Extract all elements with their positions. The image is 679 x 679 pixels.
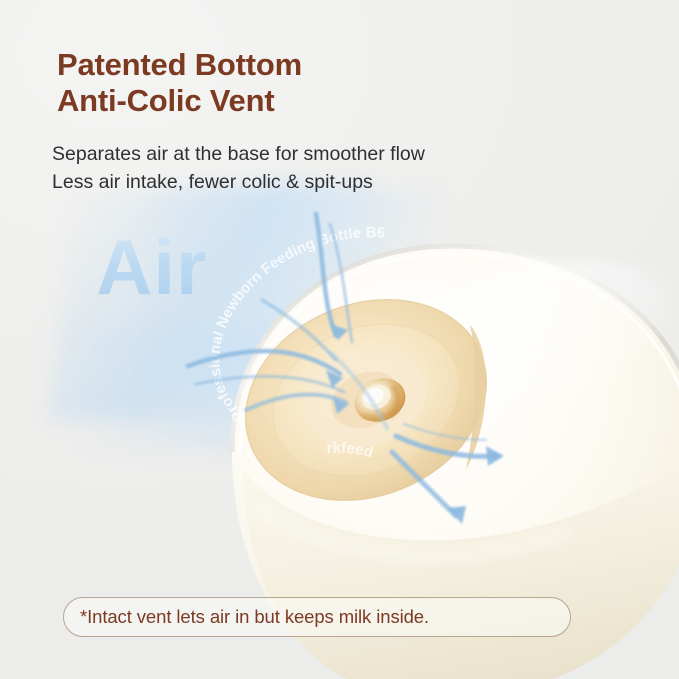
product-feature-card: Air (0, 0, 679, 679)
footnote-caption-box: *Intact vent lets air in but keeps milk … (63, 597, 571, 637)
page-title: Patented Bottom Anti-Colic Vent (57, 47, 537, 119)
footnote-caption-text: *Intact vent lets air in but keeps milk … (80, 606, 429, 628)
page-subtitle: Separates air at the base for smoother f… (52, 141, 572, 196)
